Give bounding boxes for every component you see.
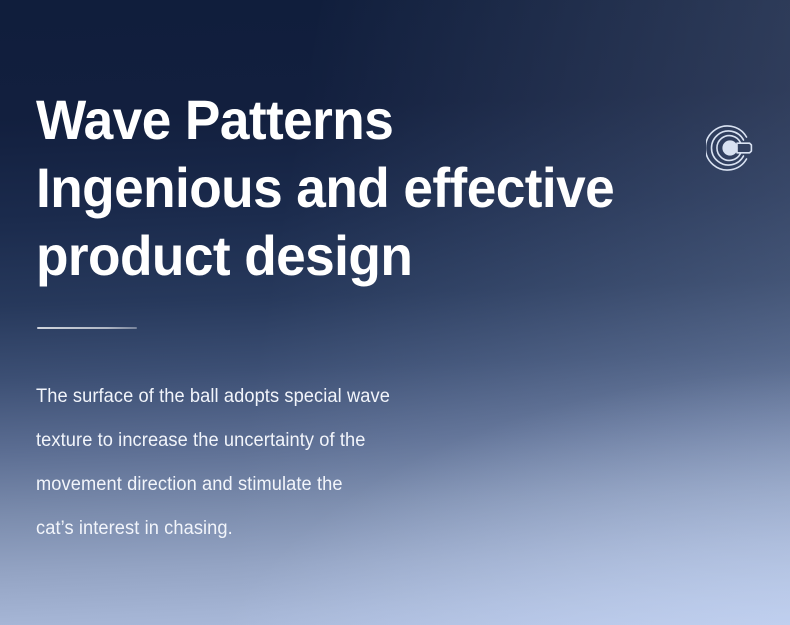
page-title: Wave Patterns Ingenious and effective pr… xyxy=(36,86,701,290)
description-text: The surface of the ball adopts special w… xyxy=(36,375,574,551)
product-feature-banner: Wave Patterns Ingenious and effective pr… xyxy=(0,0,790,625)
spiral-circle-logo-icon xyxy=(706,122,758,174)
banner-content: Wave Patterns Ingenious and effective pr… xyxy=(36,0,790,625)
spiral-circle-logo-svg xyxy=(706,122,758,174)
title-divider xyxy=(37,327,137,329)
